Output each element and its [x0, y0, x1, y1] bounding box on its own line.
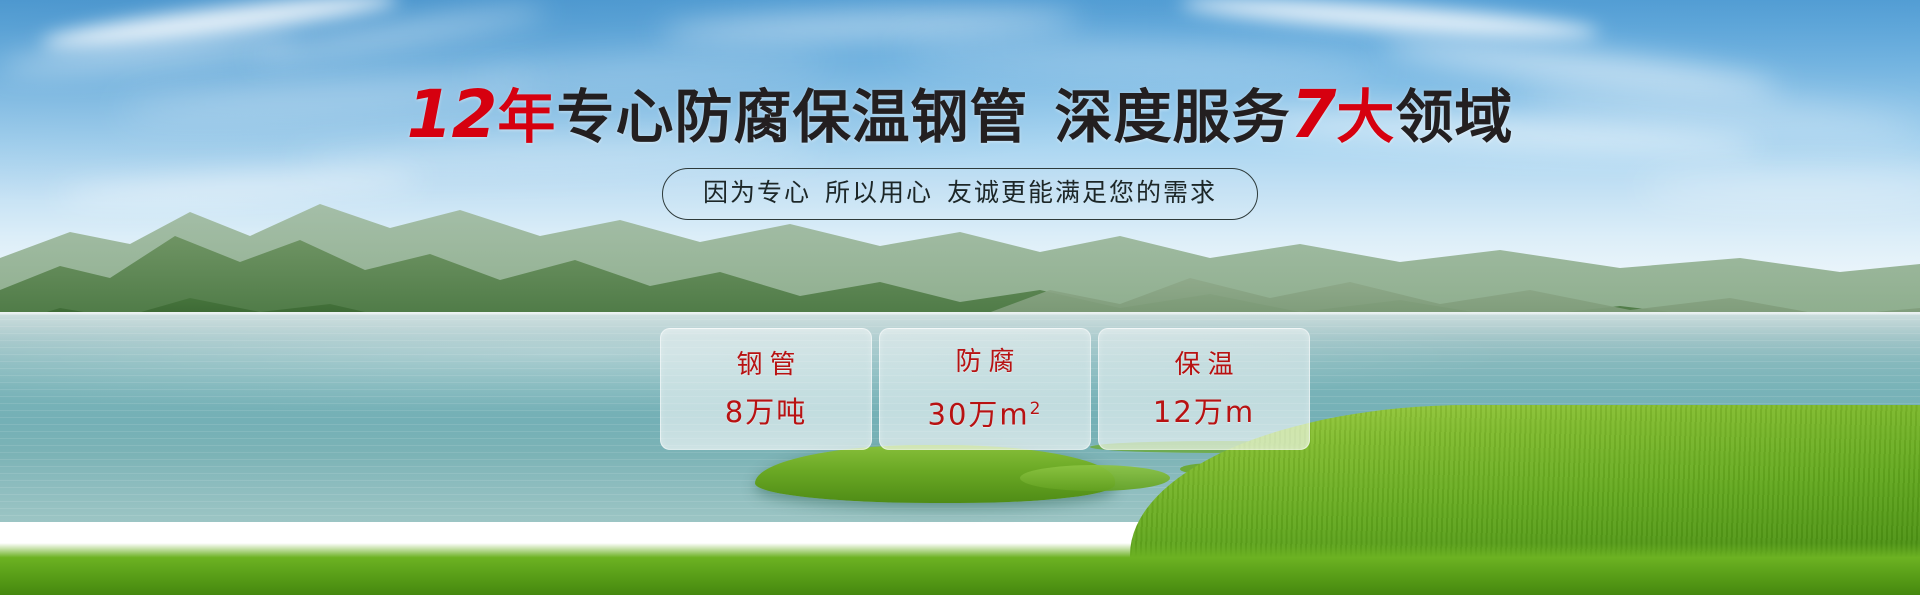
subtitle-segment-3: 友诚更能满足您的需求	[947, 178, 1217, 207]
headline-fields-number: 7	[1290, 76, 1335, 153]
stat-card-value: 8万吨	[725, 396, 807, 428]
stat-card-value-superscript: 2	[1030, 399, 1043, 419]
banner-headline: 12年专心防腐保温钢管深度服务7大领域	[0, 84, 1920, 148]
headline-text-primary: 专心防腐保温钢管	[556, 83, 1028, 151]
headline-years-unit: 年	[497, 83, 556, 151]
stat-card-group: 钢管 8万吨 防腐 30万m2 保温 12万m	[660, 328, 1310, 450]
banner-subtitle-wrapper: 因为专心所以用心友诚更能满足您的需求	[0, 168, 1920, 220]
stat-card-steel-pipe: 钢管 8万吨	[660, 328, 872, 450]
subtitle-segment-2: 所以用心	[825, 178, 933, 207]
banner-subtitle-pill: 因为专心所以用心友诚更能满足您的需求	[662, 168, 1258, 220]
stat-card-anticorrosion: 防腐 30万m2	[879, 328, 1091, 450]
stat-card-value: 12万m	[1153, 396, 1255, 428]
banner-content: 12年专心防腐保温钢管深度服务7大领域 因为专心所以用心友诚更能满足您的需求 钢…	[0, 0, 1920, 595]
headline-text-secondary: 深度服务	[1054, 83, 1290, 151]
headline-fields-unit: 大	[1336, 83, 1395, 151]
headline-text-tertiary: 领域	[1395, 83, 1513, 151]
hero-banner: 12年专心防腐保温钢管深度服务7大领域 因为专心所以用心友诚更能满足您的需求 钢…	[0, 0, 1920, 595]
subtitle-segment-1: 因为专心	[703, 178, 811, 207]
stat-card-title: 防腐	[948, 347, 1021, 377]
stat-card-title: 保温	[1167, 350, 1240, 380]
stat-card-title: 钢管	[729, 350, 802, 380]
stat-card-value-main: 30万m	[928, 398, 1030, 432]
stat-card-value: 30万m2	[928, 393, 1043, 431]
stat-card-value-main: 12万m	[1153, 395, 1255, 429]
headline-years-number: 12	[407, 76, 497, 153]
stat-card-value-main: 8万吨	[725, 395, 807, 429]
stat-card-insulation: 保温 12万m	[1098, 328, 1310, 450]
